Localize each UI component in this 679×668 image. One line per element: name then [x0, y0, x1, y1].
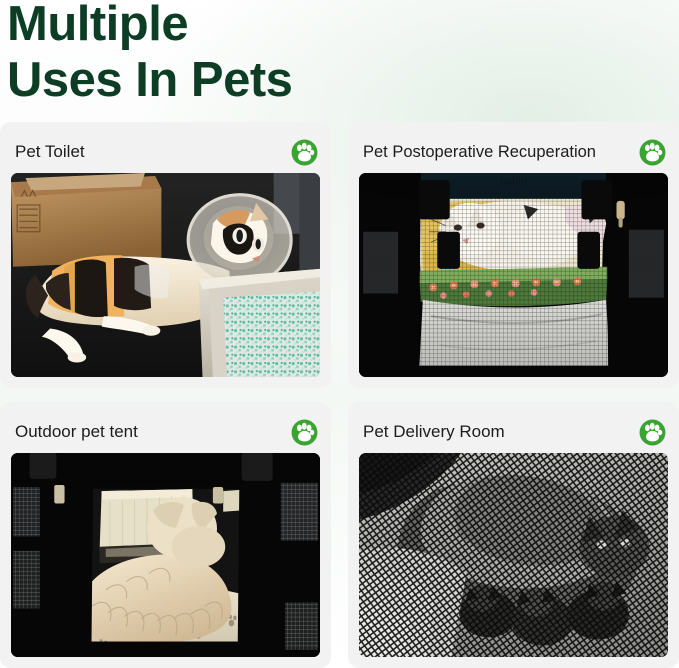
card-header: Outdoor pet tent — [11, 411, 320, 453]
use-case-card-pet-delivery-room[interactable]: Pet Delivery Room — [348, 402, 679, 668]
card-title: Pet Postoperative Recuperation — [363, 142, 596, 162]
card-photo — [359, 453, 668, 657]
use-case-card-outdoor-pet-tent[interactable]: Outdoor pet tent — [0, 402, 331, 668]
card-title: Pet Delivery Room — [363, 422, 505, 442]
paw-print-icon — [291, 419, 318, 446]
pet-delivery-room-photo — [359, 453, 668, 657]
card-header: Pet Delivery Room — [359, 411, 668, 453]
card-photo — [11, 173, 320, 377]
paw-print-icon — [291, 139, 318, 166]
card-title: Outdoor pet tent — [15, 422, 138, 442]
poster-root: Multiple Uses In Pets Pet Toilet — [0, 0, 679, 664]
page-title: Multiple Uses In Pets — [7, 0, 292, 108]
paw-print-icon — [639, 419, 666, 446]
card-title: Pet Toilet — [15, 142, 85, 162]
outdoor-pet-tent-photo — [11, 453, 320, 657]
use-case-grid: Pet Toilet — [0, 122, 679, 668]
card-header: Pet Toilet — [11, 131, 320, 173]
card-header: Pet Postoperative Recuperation — [359, 131, 668, 173]
paw-print-icon — [639, 139, 666, 166]
pet-recuperation-photo: cabin — [359, 173, 668, 377]
card-photo — [11, 453, 320, 657]
card-photo: cabin — [359, 173, 668, 377]
use-case-card-pet-postoperative-recuperation[interactable]: Pet Postoperative Recuperation — [348, 122, 679, 388]
use-case-card-pet-toilet[interactable]: Pet Toilet — [0, 122, 331, 388]
pet-toilet-photo — [11, 173, 320, 377]
